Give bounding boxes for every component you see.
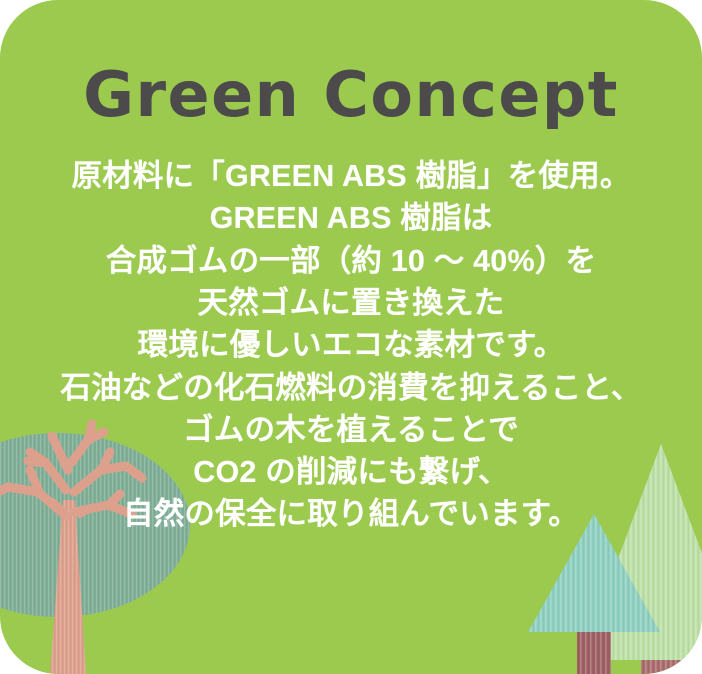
body-line-6: 石油などの化石燃料の消費を抑えること、 <box>0 367 702 409</box>
body-line-2: GREEN ABS 樹脂は <box>0 197 702 239</box>
body-line-5: 環境に優しいエコな素材です。 <box>0 324 702 366</box>
page-title: Green Concept <box>0 62 702 127</box>
green-concept-card: Green Concept 原材料に「GREEN ABS 樹脂」を使用。 GRE… <box>0 0 702 674</box>
body-line-3: 合成ゴムの一部（約 10 〜 40%）を <box>0 240 702 282</box>
body-line-1: 原材料に「GREEN ABS 樹脂」を使用。 <box>0 155 702 197</box>
body-line-7: ゴムの木を植えることで <box>0 409 702 451</box>
card-content: Green Concept 原材料に「GREEN ABS 樹脂」を使用。 GRE… <box>0 0 702 674</box>
body-line-8: CO2 の削減にも繋げ、 <box>0 451 702 493</box>
body-line-9: 自然の保全に取り組んでいます。 <box>0 493 702 535</box>
body-copy: 原材料に「GREEN ABS 樹脂」を使用。 GREEN ABS 樹脂は 合成ゴ… <box>0 155 702 536</box>
body-line-4: 天然ゴムに置き換えた <box>0 282 702 324</box>
